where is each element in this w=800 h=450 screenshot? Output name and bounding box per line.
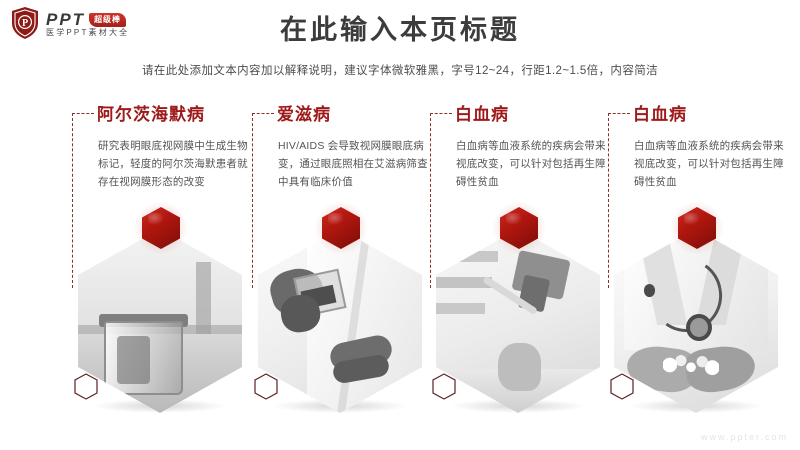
outline-hexagon-icon (74, 373, 98, 400)
hexagon-photo-frame (70, 223, 252, 419)
column-body-text: 白血病等血液系统的疾病会带来视底改变，可以针对包括再生障碍性贫血 (456, 137, 606, 191)
column-photo (614, 229, 778, 413)
content-column: 阿尔茨海默病 研究表明眼底视网膜中生成生物标记，轻度的阿尔茨海默患者就存在视网膜… (72, 105, 252, 425)
column-photo (436, 229, 600, 413)
outline-hexagon-icon (254, 373, 278, 400)
column-photo (258, 229, 422, 413)
outline-hexagon-icon (610, 373, 634, 400)
column-heading: 爱滋病 (277, 105, 331, 125)
content-columns: 阿尔茨海默病 研究表明眼底视网膜中生成生物标记，轻度的阿尔茨海默患者就存在视网膜… (0, 105, 800, 425)
page-title: 在此输入本页标题 (0, 14, 800, 46)
page-subtitle: 请在此处添加文本内容加以解释说明，建议字体微软雅黑，字号12~24，行距1.2~… (0, 62, 800, 78)
hexagon-photo-frame (250, 223, 432, 419)
column-body-text: 研究表明眼底视网膜中生成生物标记，轻度的阿尔茨海默患者就存在视网膜形态的改变 (98, 137, 248, 191)
red-hexagon-icon (500, 207, 538, 249)
column-body-text: HIV/AIDS 会导致视网膜眼底病变，通过眼底照相在艾滋病筛查中具有临床价值 (278, 137, 428, 191)
content-column: 白血病 白血病等血液系统的疾病会带来视底改变，可以针对包括再生障碍性贫血 (608, 105, 788, 425)
hexagon-photo-frame (606, 223, 788, 419)
column-heading: 白血病 (633, 105, 687, 125)
column-body-text: 白血病等血液系统的疾病会带来视底改变，可以针对包括再生障碍性贫血 (634, 137, 784, 191)
red-hexagon-icon (142, 207, 180, 249)
content-column: 爱滋病 HIV/AIDS 会导致视网膜眼底病变，通过眼底照相在艾滋病筛查中具有临… (252, 105, 432, 425)
hexagon-photo-frame (428, 223, 610, 419)
red-hexagon-icon (678, 207, 716, 249)
column-photo (78, 229, 242, 413)
column-heading: 阿尔茨海默病 (97, 105, 205, 125)
outline-hexagon-icon (432, 373, 456, 400)
content-column: 白血病 白血病等血液系统的疾病会带来视底改变，可以针对包括再生障碍性贫血 (430, 105, 610, 425)
column-heading: 白血病 (455, 105, 509, 125)
red-hexagon-icon (322, 207, 360, 249)
site-watermark: www.ppter.com (701, 432, 788, 442)
